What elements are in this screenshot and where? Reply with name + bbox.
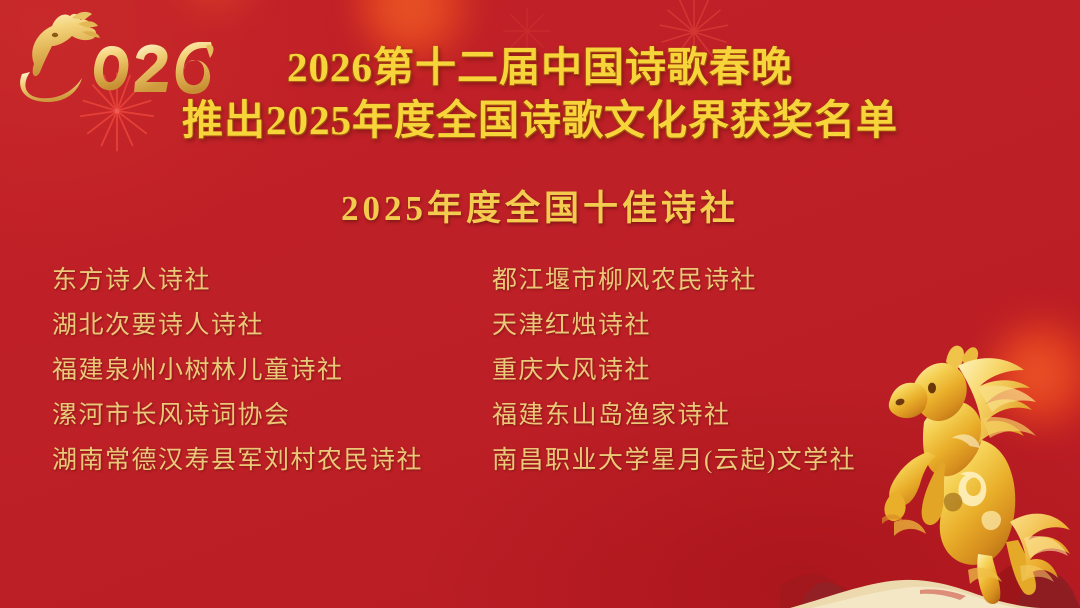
list-item: 都江堰市柳风农民诗社	[492, 258, 938, 303]
list-item: 重庆大风诗社	[492, 348, 938, 393]
list-item: 湖南常德汉寿县军刘村农民诗社	[52, 438, 492, 483]
list-item: 福建东山岛渔家诗社	[492, 393, 938, 438]
poster-canvas: 2026第十二届中国诗歌春晚 推出2025年度全国诗歌文化界获奖名单 2025年…	[0, 0, 1080, 608]
list-item: 湖北次要诗人诗社	[52, 303, 492, 348]
list-item: 福建泉州小树林儿童诗社	[52, 348, 492, 393]
list-item: 南昌职业大学星月(云起)文学社	[492, 438, 938, 483]
list-item: 天津红烛诗社	[492, 303, 938, 348]
title-block: 2026第十二届中国诗歌春晚 推出2025年度全国诗歌文化界获奖名单	[0, 44, 1080, 143]
page-title-line-2: 推出2025年度全国诗歌文化界获奖名单	[0, 97, 1080, 144]
page-title-line-1: 2026第十二届中国诗歌春晚	[0, 44, 1080, 91]
award-list: 东方诗人诗社 都江堰市柳风农民诗社 湖北次要诗人诗社 天津红烛诗社 福建泉州小树…	[52, 258, 938, 483]
list-item: 东方诗人诗社	[52, 258, 492, 303]
page-subtitle: 2025年度全国十佳诗社	[0, 180, 1080, 231]
list-item: 漯河市长风诗词协会	[52, 393, 492, 438]
